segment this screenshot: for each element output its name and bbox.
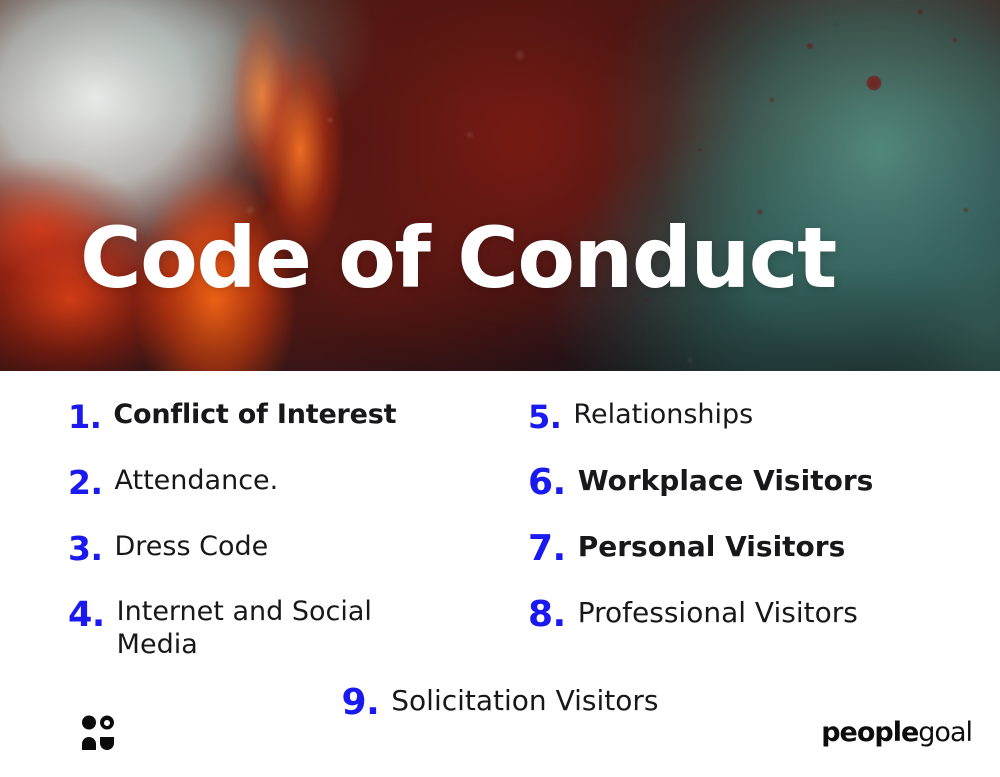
list-item-number: 7. (528, 529, 566, 569)
list-item-label: Workplace Visitors (578, 463, 874, 498)
list-item-label: Attendance. (115, 463, 279, 498)
list-item[interactable]: 3. Dress Code (68, 529, 500, 569)
code-of-conduct-poster: Code of Conduct 1. Conflict of Interest … (0, 0, 1000, 777)
list-item-number: 9. (342, 683, 380, 723)
list-item[interactable]: 2. Attendance. (68, 463, 500, 503)
list-item-label: Relationships (573, 397, 753, 432)
list-column-left: 1. Conflict of Interest 2. Attendance. 3… (0, 371, 500, 683)
list-item-label: Conflict of Interest (113, 397, 396, 432)
people-icon (80, 714, 116, 752)
list-item-label: Personal Visitors (578, 529, 846, 564)
list-item-number: 2. (68, 463, 103, 503)
list-item[interactable]: 1. Conflict of Interest (68, 397, 500, 437)
list-item-number: 1. (68, 397, 101, 437)
list-item-number: 6. (528, 463, 566, 503)
list-item-label: Internet and Social Media (117, 595, 447, 661)
hero-vignette-overlay (0, 0, 1000, 371)
list-item[interactable]: 8. Professional Visitors (528, 595, 1000, 635)
list-columns: 1. Conflict of Interest 2. Attendance. 3… (0, 371, 1000, 683)
list-item-number: 5. (528, 397, 561, 437)
list-item-label: Dress Code (115, 529, 269, 564)
brand-logo: peoplegoal (821, 716, 972, 750)
list-item-number: 4. (68, 595, 105, 635)
list-item[interactable]: 4. Internet and Social Media (68, 595, 500, 661)
list-item-number: 8. (528, 595, 566, 635)
brand-logo-people: people (821, 717, 918, 748)
list-item-label: Professional Visitors (578, 595, 858, 630)
list-item[interactable]: 5. Relationships (528, 397, 1000, 437)
hero-banner: Code of Conduct (0, 0, 1000, 371)
list-item-label: Solicitation Visitors (391, 683, 658, 718)
list-item-number: 3. (68, 529, 103, 569)
brand-logo-goal: goal (918, 717, 972, 748)
list-item[interactable]: 7. Personal Visitors (528, 529, 1000, 569)
list-column-right: 5. Relationships 6. Workplace Visitors 7… (500, 371, 1000, 683)
list-item[interactable]: 6. Workplace Visitors (528, 463, 1000, 503)
page-title: Code of Conduct (80, 216, 836, 300)
